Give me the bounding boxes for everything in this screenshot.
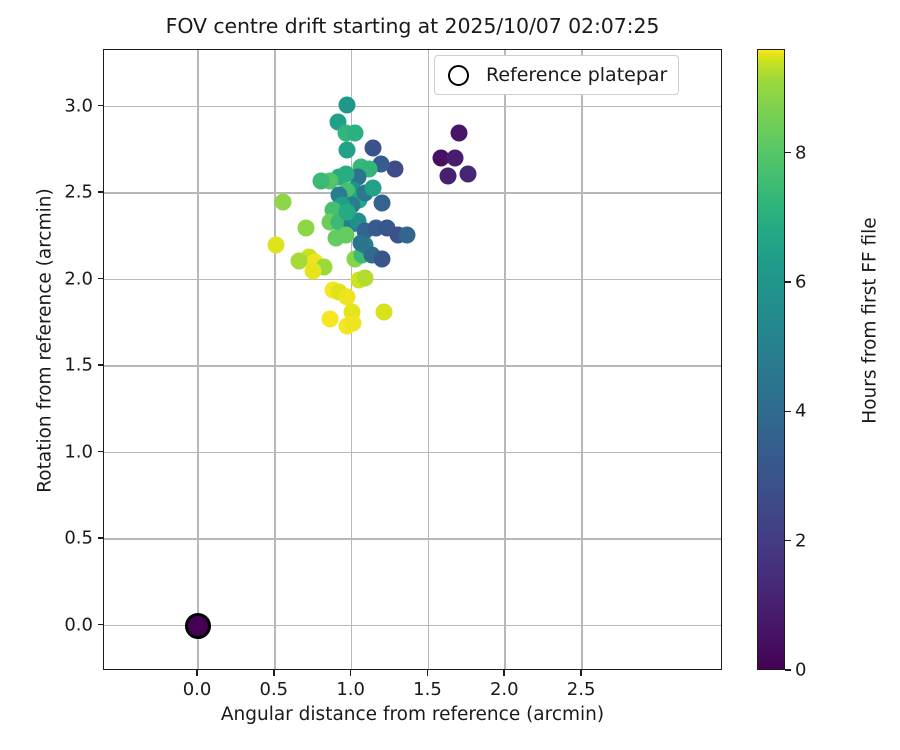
y-tick-label: 3.0 — [51, 95, 93, 116]
x-tick-mark — [503, 670, 505, 676]
scatter-point — [440, 167, 457, 184]
scatter-point — [451, 124, 468, 141]
y-tick-label: 0.5 — [51, 528, 93, 549]
x-axis-label: Angular distance from reference (arcmin) — [103, 704, 722, 725]
scatter-point — [375, 304, 392, 321]
scatter-point — [346, 124, 363, 141]
y-tick-label: 1.5 — [51, 355, 93, 376]
scatter-point — [446, 150, 463, 167]
gridline-horizontal — [104, 538, 721, 540]
scatter-point — [297, 219, 314, 236]
gridline-vertical — [428, 50, 430, 669]
page-title: FOV centre drift starting at 2025/10/07 … — [103, 14, 722, 38]
x-tick-mark — [580, 670, 582, 676]
scatter-point — [365, 140, 382, 157]
x-tick-label: 2.0 — [490, 679, 519, 700]
x-tick-mark — [196, 670, 198, 676]
gridline-vertical — [197, 50, 199, 669]
y-tick-mark — [98, 278, 104, 280]
colorbar-label: Hours from first FF file — [860, 11, 881, 631]
scatter-point — [460, 166, 477, 183]
colorbar-tick-label: 0 — [795, 660, 806, 681]
scatter-point — [345, 314, 362, 331]
colorbar-tick-label: 8 — [795, 142, 806, 163]
colorbar-gradient — [757, 49, 785, 670]
gridline-vertical — [274, 50, 276, 669]
scatter-point — [374, 250, 391, 267]
gridline-horizontal — [104, 365, 721, 367]
y-axis-label: Rotation from reference (arcmin) — [35, 31, 56, 651]
colorbar-tick-mark — [785, 152, 791, 153]
x-tick-label: 0.5 — [260, 679, 289, 700]
scatter-point — [339, 141, 356, 158]
colorbar-tick-label: 4 — [795, 401, 806, 422]
colorbar-tick-mark — [785, 411, 791, 412]
y-tick-mark — [98, 624, 104, 626]
scatter-point — [365, 179, 382, 196]
y-tick-mark — [98, 451, 104, 453]
x-tick-mark — [427, 670, 429, 676]
y-tick-mark — [98, 364, 104, 366]
x-tick-label: 1.5 — [413, 679, 442, 700]
scatter-point — [274, 193, 291, 210]
y-tick-label: 1.0 — [51, 441, 93, 462]
open-circle-icon — [448, 65, 469, 86]
colorbar-tick-label: 2 — [795, 530, 806, 551]
y-tick-label: 0.0 — [51, 614, 93, 635]
x-tick-label: 0.0 — [183, 679, 212, 700]
legend-label: Reference platepar — [486, 64, 667, 86]
scatter-point — [305, 262, 322, 279]
plot-area — [103, 49, 722, 670]
colorbar: 02468 — [757, 49, 785, 670]
scatter-point — [374, 195, 391, 212]
y-tick-mark — [98, 191, 104, 193]
scatter-point — [268, 236, 285, 253]
legend: Reference platepar — [434, 55, 679, 95]
scatter-point — [357, 269, 374, 286]
colorbar-tick-mark — [785, 669, 791, 670]
gridline-horizontal — [104, 279, 721, 281]
y-tick-label: 2.5 — [51, 182, 93, 203]
y-tick-mark — [98, 105, 104, 107]
scatter-point — [291, 252, 308, 269]
colorbar-tick-mark — [785, 540, 791, 541]
x-tick-mark — [350, 670, 352, 676]
x-tick-label: 1.0 — [336, 679, 365, 700]
colorbar-tick-mark — [785, 281, 791, 282]
scatter-point — [352, 235, 369, 252]
scatter-point — [398, 226, 415, 243]
gridline-horizontal — [104, 192, 721, 194]
gridline-horizontal — [104, 106, 721, 108]
scatter-point — [339, 204, 356, 221]
colorbar-tick-label: 6 — [795, 271, 806, 292]
reference-platepar-marker — [185, 613, 211, 639]
x-tick-mark — [273, 670, 275, 676]
scatter-point — [328, 230, 345, 247]
scatter-point — [312, 172, 329, 189]
scatter-point — [322, 311, 339, 328]
y-tick-label: 2.0 — [51, 268, 93, 289]
figure: FOV centre drift starting at 2025/10/07 … — [0, 0, 900, 750]
scatter-point — [339, 96, 356, 113]
scatter-point — [339, 288, 356, 305]
gridline-horizontal — [104, 452, 721, 454]
y-tick-mark — [98, 537, 104, 539]
gridline-vertical — [504, 50, 506, 669]
x-tick-label: 2.5 — [567, 679, 596, 700]
gridline-vertical — [581, 50, 583, 669]
